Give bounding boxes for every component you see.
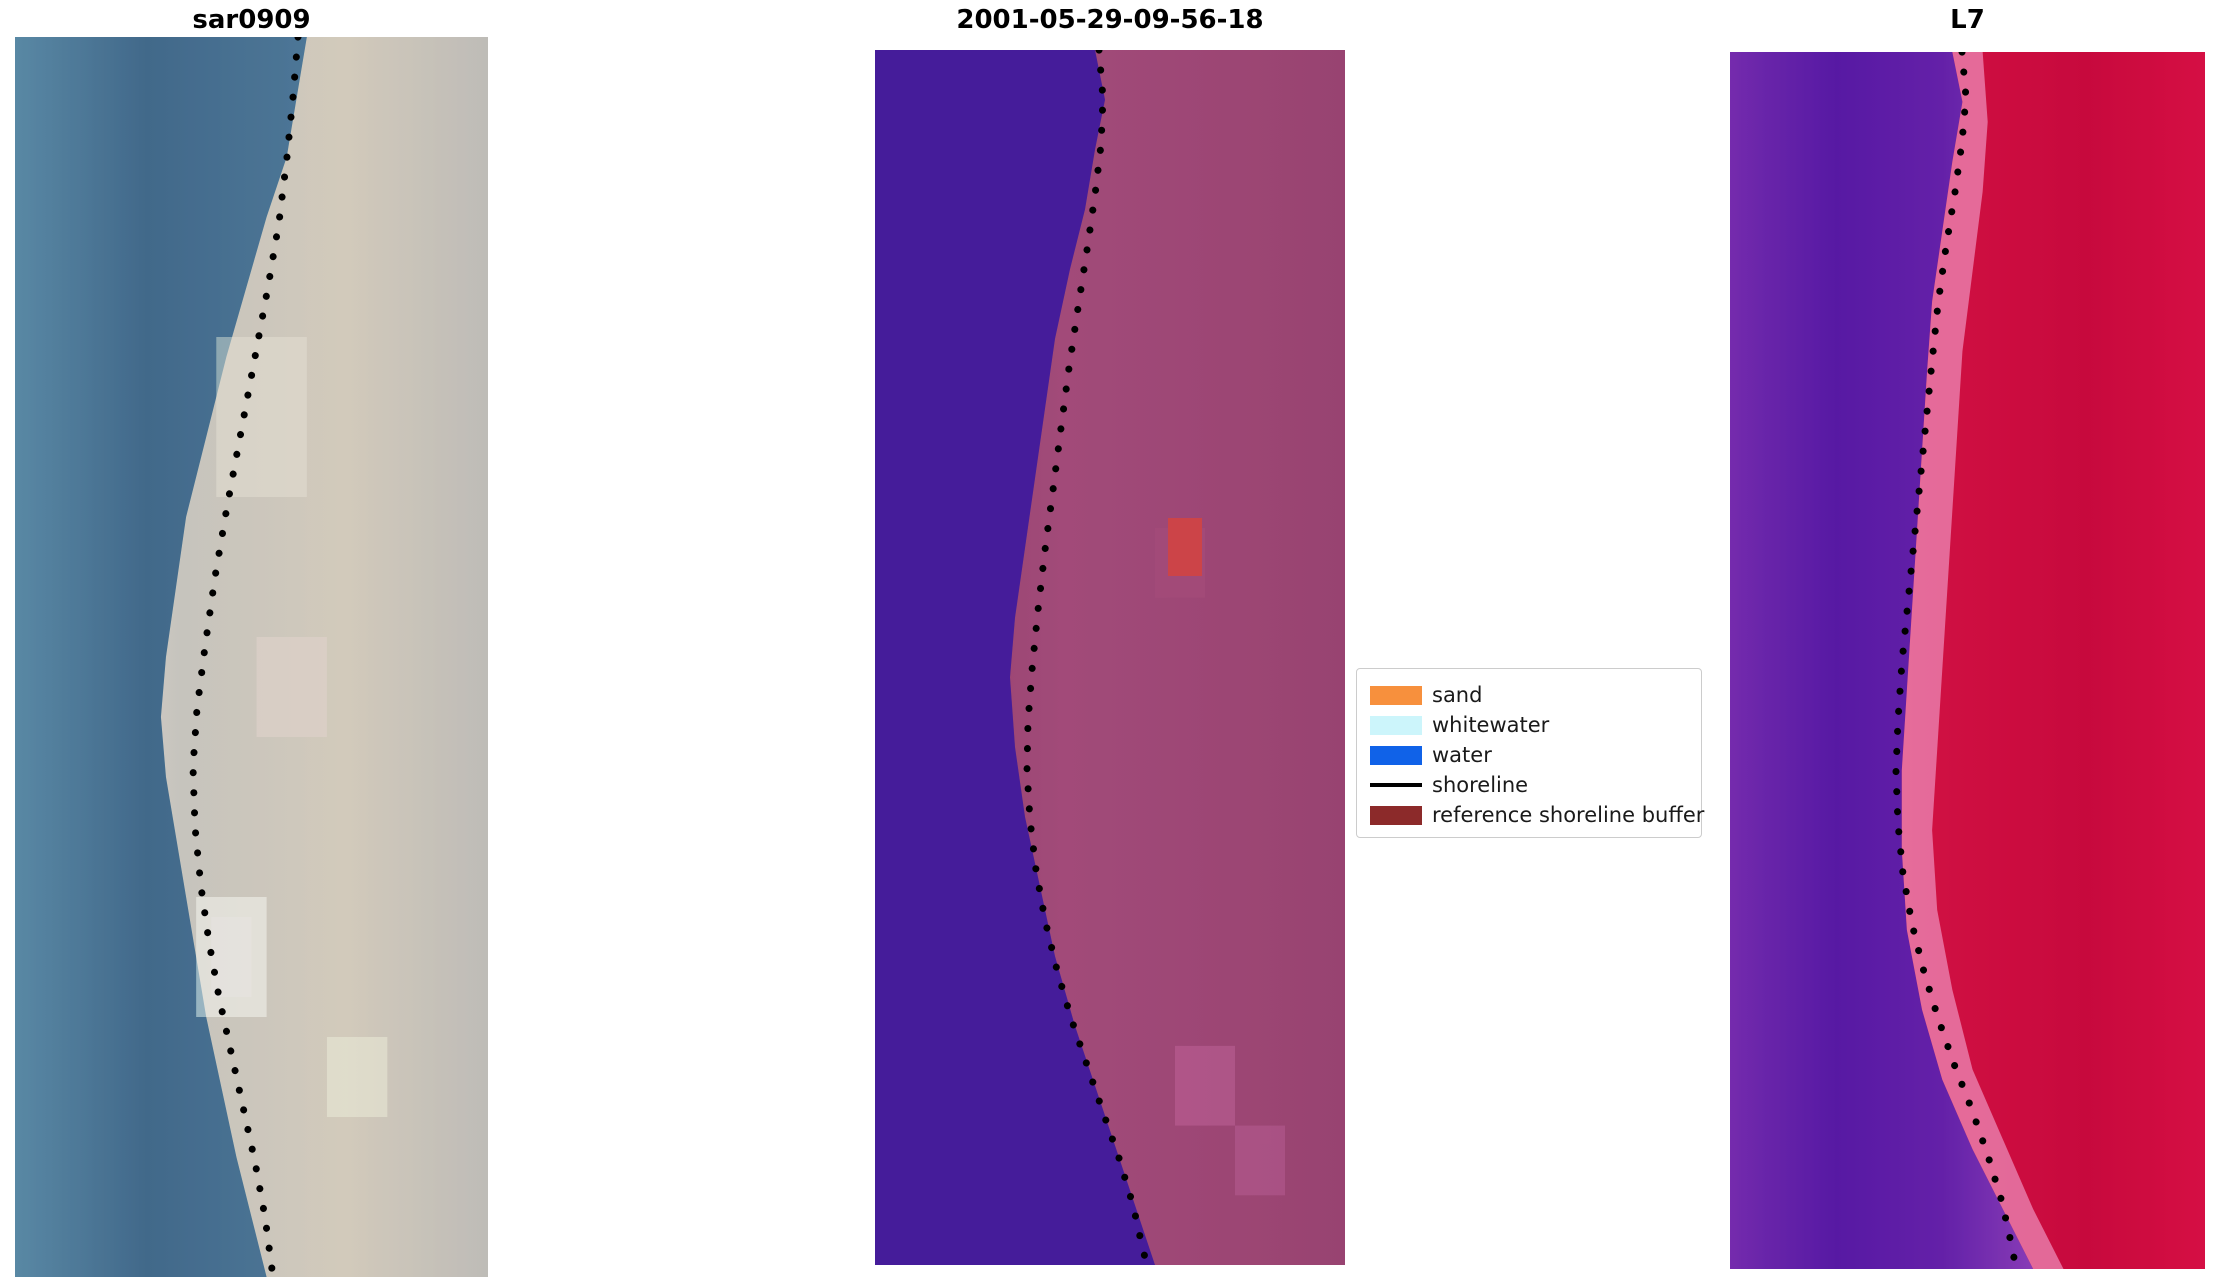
legend-box[interactable]: sand whitewater water shoreline referenc: [1356, 668, 1702, 838]
panel-title-sar: sar0909: [15, 5, 488, 35]
legend-label-whitewater: whitewater: [1432, 710, 1549, 740]
legend-item-reference-shoreline-buffer[interactable]: reference shoreline buffer: [1370, 800, 1688, 830]
whitewater-swatch-wrap: [1370, 710, 1432, 740]
figure-canvas: sar0909 2001-05-29-09-56-18 L7: [0, 0, 2216, 1283]
image-panel-classification[interactable]: [875, 50, 1345, 1265]
shoreline-line-swatch: [1370, 783, 1422, 787]
legend-item-shoreline[interactable]: shoreline: [1370, 770, 1688, 800]
panel-1-raster: [15, 37, 488, 1277]
shoreline-swatch-wrap: [1370, 770, 1432, 800]
water-swatch-wrap: [1370, 740, 1432, 770]
legend-item-whitewater[interactable]: whitewater: [1370, 710, 1688, 740]
whitewater-color-swatch: [1370, 716, 1422, 735]
water-color-swatch: [1370, 746, 1422, 765]
panel-3-raster: [1730, 52, 2205, 1269]
image-panel-sar0909[interactable]: [15, 37, 488, 1277]
panel-title-l7: L7: [1730, 5, 2205, 35]
buffer-swatch-wrap: [1370, 800, 1432, 830]
panel-2-raster: [875, 50, 1345, 1265]
reference-shoreline-buffer-patch: [1168, 518, 1202, 576]
panel-title-timestamp: 2001-05-29-09-56-18: [875, 5, 1345, 35]
sand-color-swatch: [1370, 686, 1422, 705]
legend-label-sand: sand: [1432, 680, 1482, 710]
legend-label-reference-shoreline-buffer: reference shoreline buffer: [1432, 800, 1704, 830]
image-panel-l7[interactable]: [1730, 52, 2205, 1269]
legend-item-sand[interactable]: sand: [1370, 680, 1688, 710]
legend-label-water: water: [1432, 740, 1492, 770]
reference-shoreline-buffer-color-swatch: [1370, 806, 1422, 825]
legend-item-water[interactable]: water: [1370, 740, 1688, 770]
sand-swatch-wrap: [1370, 680, 1432, 710]
legend-label-shoreline: shoreline: [1432, 770, 1528, 800]
